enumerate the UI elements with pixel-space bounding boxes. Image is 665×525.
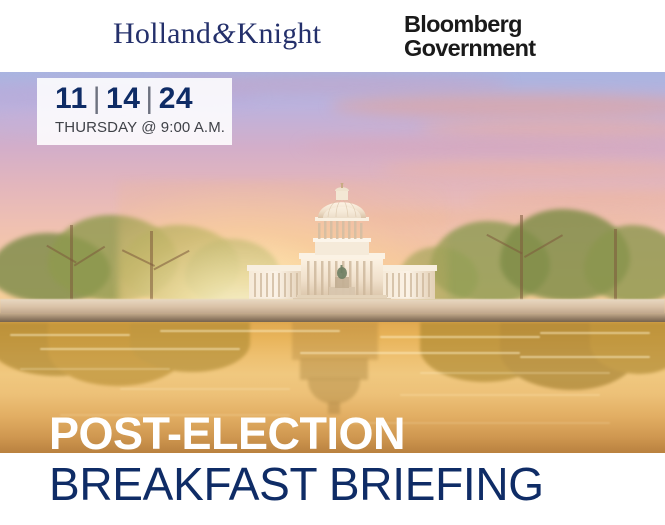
bloomberg-logo-line2: Government [404,37,535,61]
date-separator: | [88,82,106,115]
tree-trunk [614,229,617,303]
logo-header-band: Holland&Knight Bloomberg Government [0,0,665,72]
event-title-line2: BREAKFAST BRIEFING [49,461,544,507]
hk-logo-part1: Holland [113,17,211,50]
event-title-line1: POST-ELECTION [49,411,405,456]
tree-trunk [150,231,153,303]
event-day-and-time: THURSDAY @ 9:00 A.M. [55,119,225,136]
event-date: 11|14|24 [55,84,193,114]
tree-trunk [520,215,523,303]
date-separator: | [140,82,158,115]
event-date-day: 14 [106,82,140,115]
event-date-month: 11 [55,82,88,115]
event-date-badge: 11|14|24 THURSDAY @ 9:00 A.M. [37,78,232,145]
holland-and-knight-logo: Holland&Knight [113,19,321,49]
bloomberg-logo-line1: Bloomberg [404,13,535,37]
event-date-year: 24 [159,82,193,115]
hk-logo-part2: Knight [237,17,322,50]
post-election-breakfast-briefing-promo-card: Holland&Knight Bloomberg Government 11|1… [0,0,665,525]
bloomberg-government-logo: Bloomberg Government [404,13,535,61]
hk-logo-ampersand: & [211,17,237,50]
us-capitol-building [247,183,437,313]
